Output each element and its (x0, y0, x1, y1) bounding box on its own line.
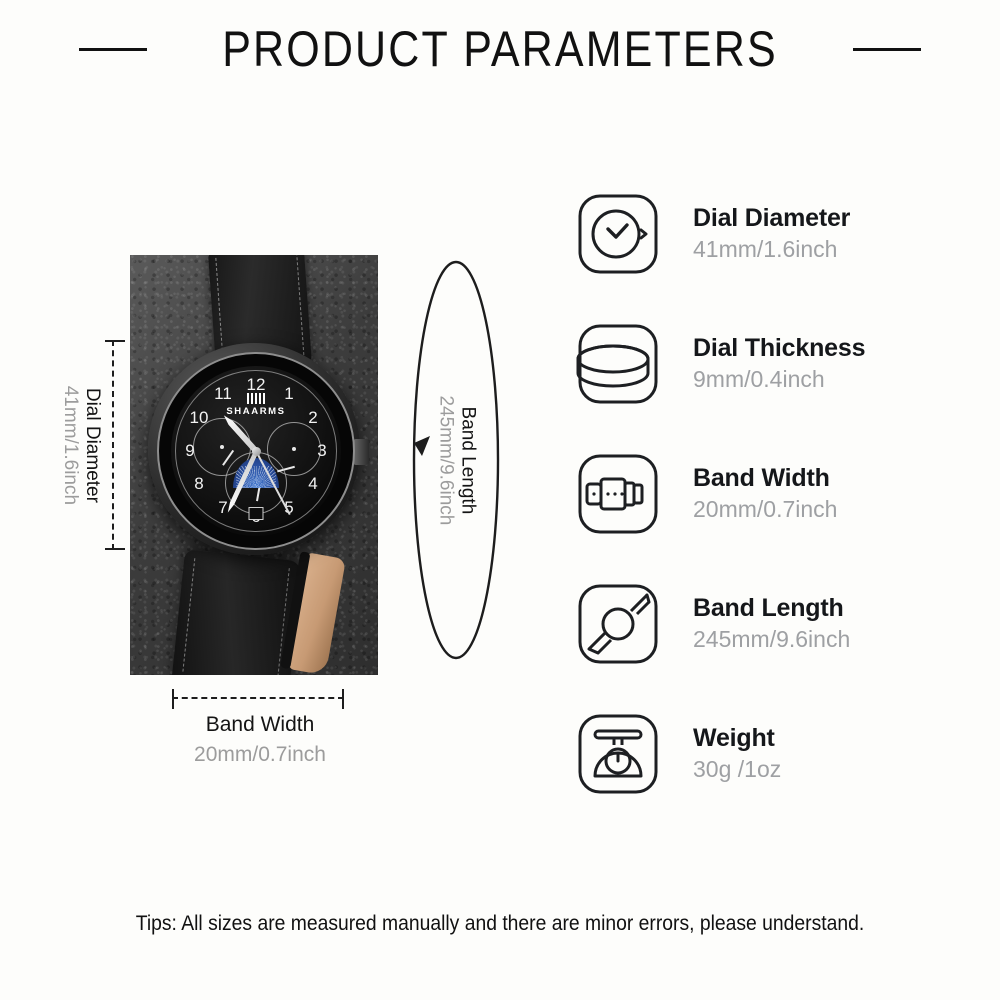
watch-case: SHAARMS 12 1 2 3 (148, 343, 360, 555)
spec-list: Dial Diameter 41mm/1.6inch Dial Thicknes… (575, 185, 975, 802)
spec-text: Band Width 20mm/0.7inch (693, 464, 837, 524)
spec-text: Weight 30g /1oz (693, 724, 781, 784)
spec-row-dial-diameter: Dial Diameter 41mm/1.6inch (575, 185, 975, 282)
dial-diameter-callout-value: 41mm/1.6inch (59, 385, 81, 504)
page-header: PRODUCT PARAMETERS (0, 14, 1000, 84)
date-window (249, 507, 264, 520)
spec-label: Weight (693, 724, 781, 753)
spec-text: Dial Diameter 41mm/1.6inch (693, 204, 850, 264)
spec-value: 245mm/9.6inch (693, 626, 850, 654)
dial-diameter-callout-label: Dial Diameter (81, 385, 103, 504)
band-width-callout-value: 20mm/0.7inch (120, 740, 400, 770)
spec-text: Band Length 245mm/9.6inch (693, 594, 850, 654)
watch-dial: SHAARMS 12 1 2 3 (171, 366, 341, 536)
tips-footer: Tips: All sizes are measured manually an… (40, 912, 960, 936)
buckle-width-icon (575, 451, 661, 537)
spec-label: Dial Diameter (693, 204, 850, 233)
spec-row-dial-thickness: Dial Thickness 9mm/0.4inch (575, 315, 975, 412)
spec-text: Dial Thickness 9mm/0.4inch (693, 334, 865, 394)
watch-crown (353, 439, 369, 465)
watch-dial-icon (575, 191, 661, 277)
hands-hub (252, 447, 261, 456)
dial-diameter-dimension-line (112, 340, 116, 550)
band-width-dimension-line (172, 697, 344, 701)
spec-value: 30g /1oz (693, 756, 781, 784)
watch-product-photo: SHAARMS 12 1 2 3 (130, 255, 378, 675)
dimension-cap-right (342, 689, 344, 709)
title-rule-left (79, 48, 147, 51)
spec-label: Dial Thickness (693, 334, 865, 363)
spec-row-band-width: Band Width 20mm/0.7inch (575, 445, 975, 542)
spec-value: 20mm/0.7inch (693, 496, 837, 524)
kitchen-scale-icon (575, 711, 661, 797)
spec-row-weight: Weight 30g /1oz (575, 705, 975, 802)
subdial-hub (292, 447, 296, 451)
watch-bezel: SHAARMS 12 1 2 3 (157, 352, 355, 550)
band-length-loop-arrow (404, 258, 508, 662)
strap-length-icon (575, 581, 661, 667)
page-title: PRODUCT PARAMETERS (222, 20, 778, 78)
spec-label: Band Width (693, 464, 837, 493)
subdial-hub (220, 445, 224, 449)
dial-diameter-callout: Dial Diameter 41mm/1.6inch (52, 340, 110, 550)
band-width-callout: Band Width 20mm/0.7inch (120, 710, 400, 771)
spec-row-band-length: Band Length 245mm/9.6inch (575, 575, 975, 672)
spec-label: Band Length (693, 594, 850, 623)
disc-thickness-icon (575, 321, 661, 407)
spec-value: 41mm/1.6inch (693, 236, 850, 264)
title-rule-right (853, 48, 921, 51)
spec-value: 9mm/0.4inch (693, 366, 865, 394)
band-width-callout-label: Band Width (120, 710, 400, 740)
dimension-cap-left (172, 689, 174, 709)
